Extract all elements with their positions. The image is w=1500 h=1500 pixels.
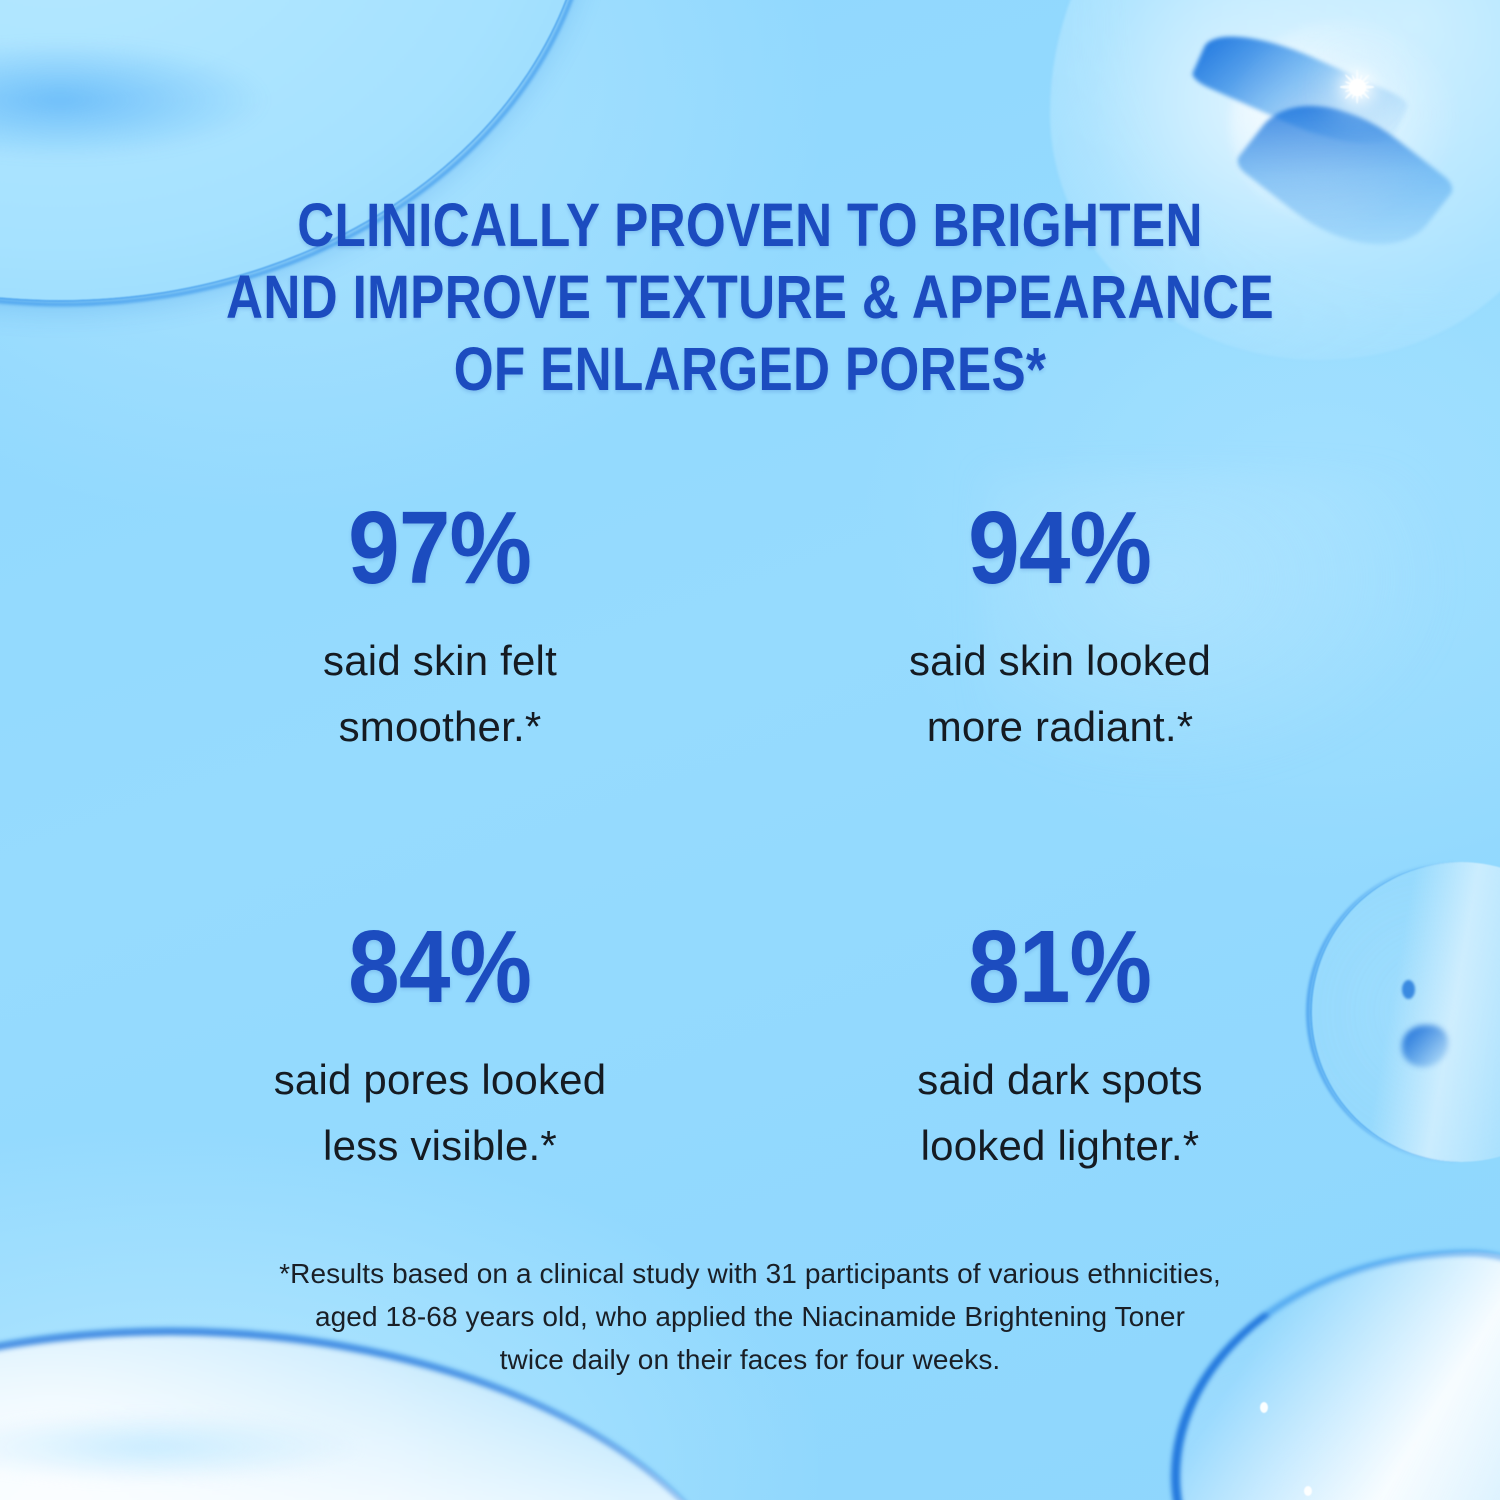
stat-caption-line-1: said pores looked — [130, 1047, 750, 1113]
stat-caption: said pores looked less visible.* — [130, 1047, 750, 1179]
promotional-claims-poster: CLINICALLY PROVEN TO BRIGHTEN AND IMPROV… — [0, 0, 1500, 1500]
stat-card-skin-smoother: 97% said skin felt smoother.* — [130, 496, 750, 760]
stat-value: 94% — [969, 496, 1152, 600]
footnote-disclaimer: *Results based on a clinical study with … — [190, 1252, 1310, 1381]
headline-line-3: OF ENLARGED PORES* — [120, 333, 1380, 405]
footnote-line-2: aged 18-68 years old, who applied the Ni… — [190, 1295, 1310, 1338]
stat-caption-line-2: less visible.* — [130, 1113, 750, 1179]
footnote-line-1: *Results based on a clinical study with … — [190, 1252, 1310, 1295]
stat-value: 97% — [349, 496, 532, 600]
headline-line-2: AND IMPROVE TEXTURE & APPEARANCE — [120, 261, 1380, 333]
stat-caption-line-2: looked lighter.* — [750, 1113, 1370, 1179]
headline-line-1: CLINICALLY PROVEN TO BRIGHTEN — [120, 189, 1380, 261]
stat-value: 81% — [969, 915, 1152, 1019]
stat-card-skin-radiant: 94% said skin looked more radiant.* — [750, 496, 1370, 760]
statistics-row: 84% said pores looked less visible.* 81%… — [130, 915, 1370, 1179]
stat-value: 84% — [349, 915, 532, 1019]
stat-caption: said skin looked more radiant.* — [750, 628, 1370, 760]
stat-caption-line-2: smoother.* — [130, 694, 750, 760]
stat-card-dark-spots-lighter: 81% said dark spots looked lighter.* — [750, 915, 1370, 1179]
stat-caption-line-1: said skin looked — [750, 628, 1370, 694]
page-title: CLINICALLY PROVEN TO BRIGHTEN AND IMPROV… — [120, 189, 1380, 405]
poster-content: CLINICALLY PROVEN TO BRIGHTEN AND IMPROV… — [0, 0, 1500, 1500]
stat-caption: said dark spots looked lighter.* — [750, 1047, 1370, 1179]
stat-caption-line-1: said dark spots — [750, 1047, 1370, 1113]
stat-card-pores-less-visible: 84% said pores looked less visible.* — [130, 915, 750, 1179]
stat-caption: said skin felt smoother.* — [130, 628, 750, 760]
statistics-grid: 97% said skin felt smoother.* 94% said s… — [130, 496, 1370, 1179]
statistics-row: 97% said skin felt smoother.* 94% said s… — [130, 496, 1370, 760]
footnote-line-3: twice daily on their faces for four week… — [190, 1338, 1310, 1381]
stat-caption-line-2: more radiant.* — [750, 694, 1370, 760]
stat-caption-line-1: said skin felt — [130, 628, 750, 694]
